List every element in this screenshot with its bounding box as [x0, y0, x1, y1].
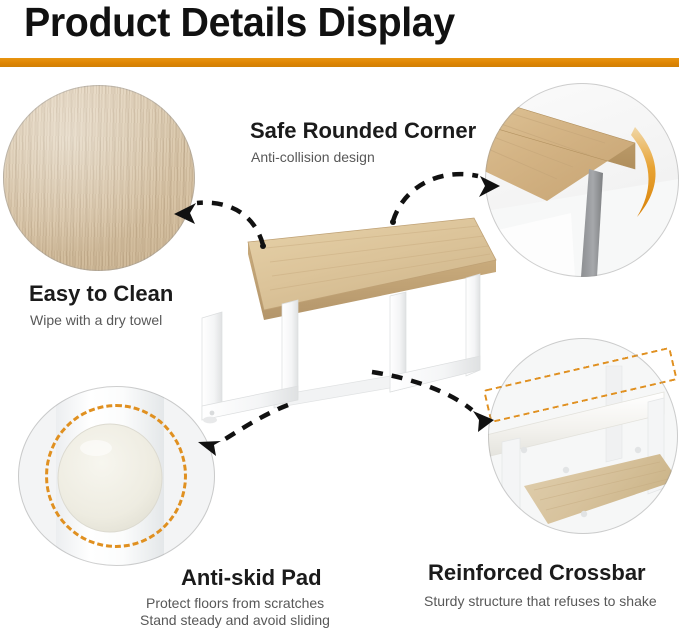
callout-sub-anti-skid-pad-2: Stand steady and avoid sliding — [140, 611, 330, 630]
wood-sheen-overlay — [3, 85, 195, 271]
title-divider — [0, 58, 679, 67]
coffee-table-art — [178, 200, 498, 425]
rounded-corner-photo — [485, 83, 679, 277]
callout-title-easy-to-clean: Easy to Clean — [29, 281, 173, 307]
page-title: Product Details Display — [24, 0, 455, 46]
callout-title-safe-rounded-corner: Safe Rounded Corner — [250, 118, 476, 144]
pad-highlight-dashed-circle — [45, 404, 187, 548]
center-table-illustration — [178, 200, 498, 425]
callout-sub-reinforced-crossbar: Sturdy structure that refuses to shake — [424, 592, 657, 611]
corner-photo-art — [485, 83, 679, 277]
callout-sub-safe-rounded-corner: Anti-collision design — [251, 148, 375, 167]
product-details-page: Product Details Display Easy to Clean Wi… — [0, 0, 679, 631]
callout-title-anti-skid-pad: Anti-skid Pad — [181, 565, 322, 591]
callout-title-reinforced-crossbar: Reinforced Crossbar — [428, 560, 646, 586]
callout-sub-easy-to-clean: Wipe with a dry towel — [30, 311, 162, 330]
wood-grain-swatch-photo — [3, 85, 195, 271]
